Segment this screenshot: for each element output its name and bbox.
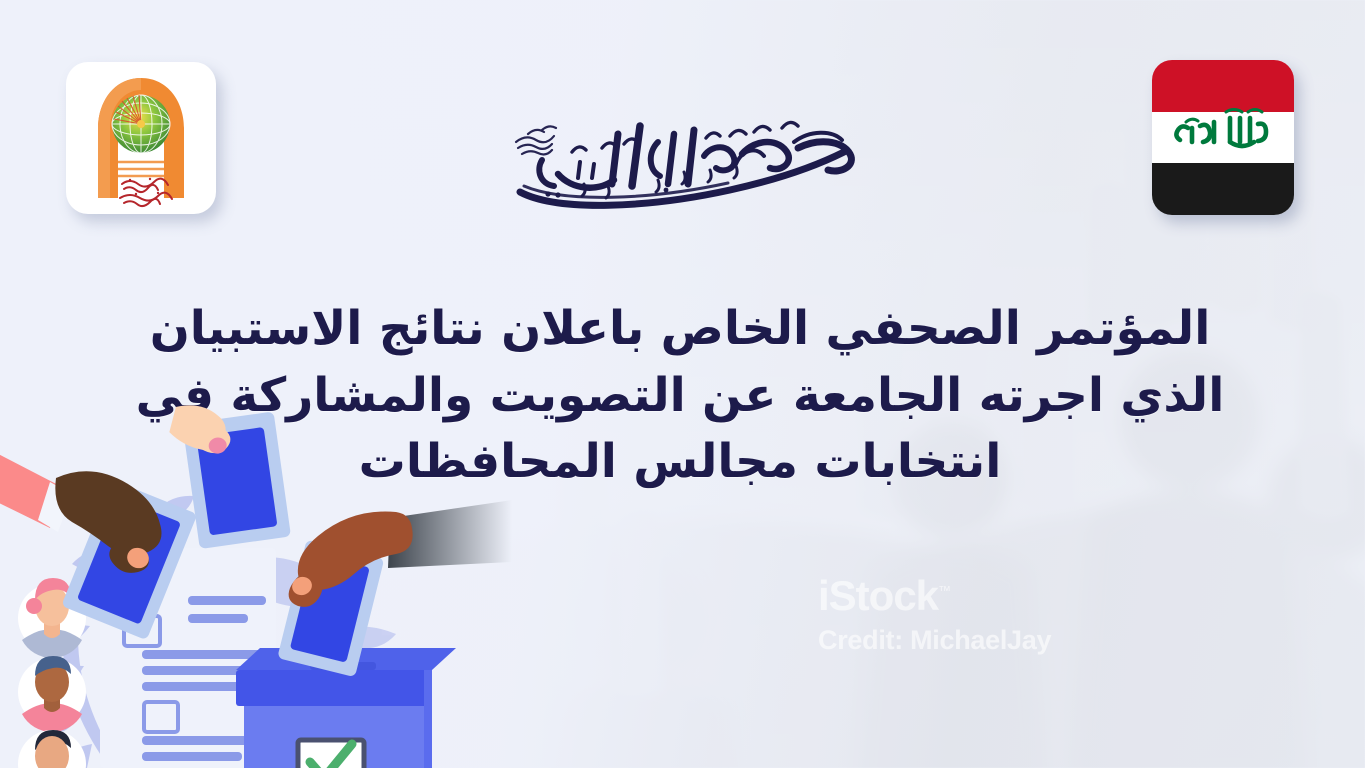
arabic-calligraphy-icon (498, 108, 870, 220)
ballot-box-icon (236, 648, 456, 768)
university-wordmark (498, 108, 870, 220)
istock-watermark: iStock™ Credit: MichaelJay (818, 575, 1051, 656)
trademark-icon: ™ (938, 583, 950, 598)
watermark-brand: iStock™ (818, 575, 950, 617)
iraq-flag-card (1152, 60, 1294, 215)
headline-line-2: الذي اجرته الجامعة عن التصويت والمشاركة … (90, 363, 1270, 430)
university-logo-icon (66, 62, 216, 214)
laurel-wreath-icon (40, 496, 194, 768)
candidate-avatar-2 (18, 656, 86, 732)
candidate-avatar-3 (18, 730, 86, 768)
candidate-avatar-1 (18, 578, 86, 662)
headline-line-3: انتخابات مجالس المحافظات (90, 429, 1270, 496)
page-title: المؤتمر الصحفي الخاص باعلان نتائج الاستب… (90, 296, 1270, 496)
iraq-flag-icon (1152, 60, 1294, 215)
university-logo-card (66, 62, 216, 214)
poster-canvas: المؤتمر الصحفي الخاص باعلان نتائج الاستب… (0, 0, 1365, 768)
hand-right (277, 500, 512, 677)
watermark-brand-text: iStock (818, 572, 938, 619)
headline-line-1: المؤتمر الصحفي الخاص باعلان نتائج الاستب… (90, 296, 1270, 363)
candidate-list-panel (18, 548, 276, 768)
watermark-credit: Credit: MichaelJay (818, 625, 1051, 656)
